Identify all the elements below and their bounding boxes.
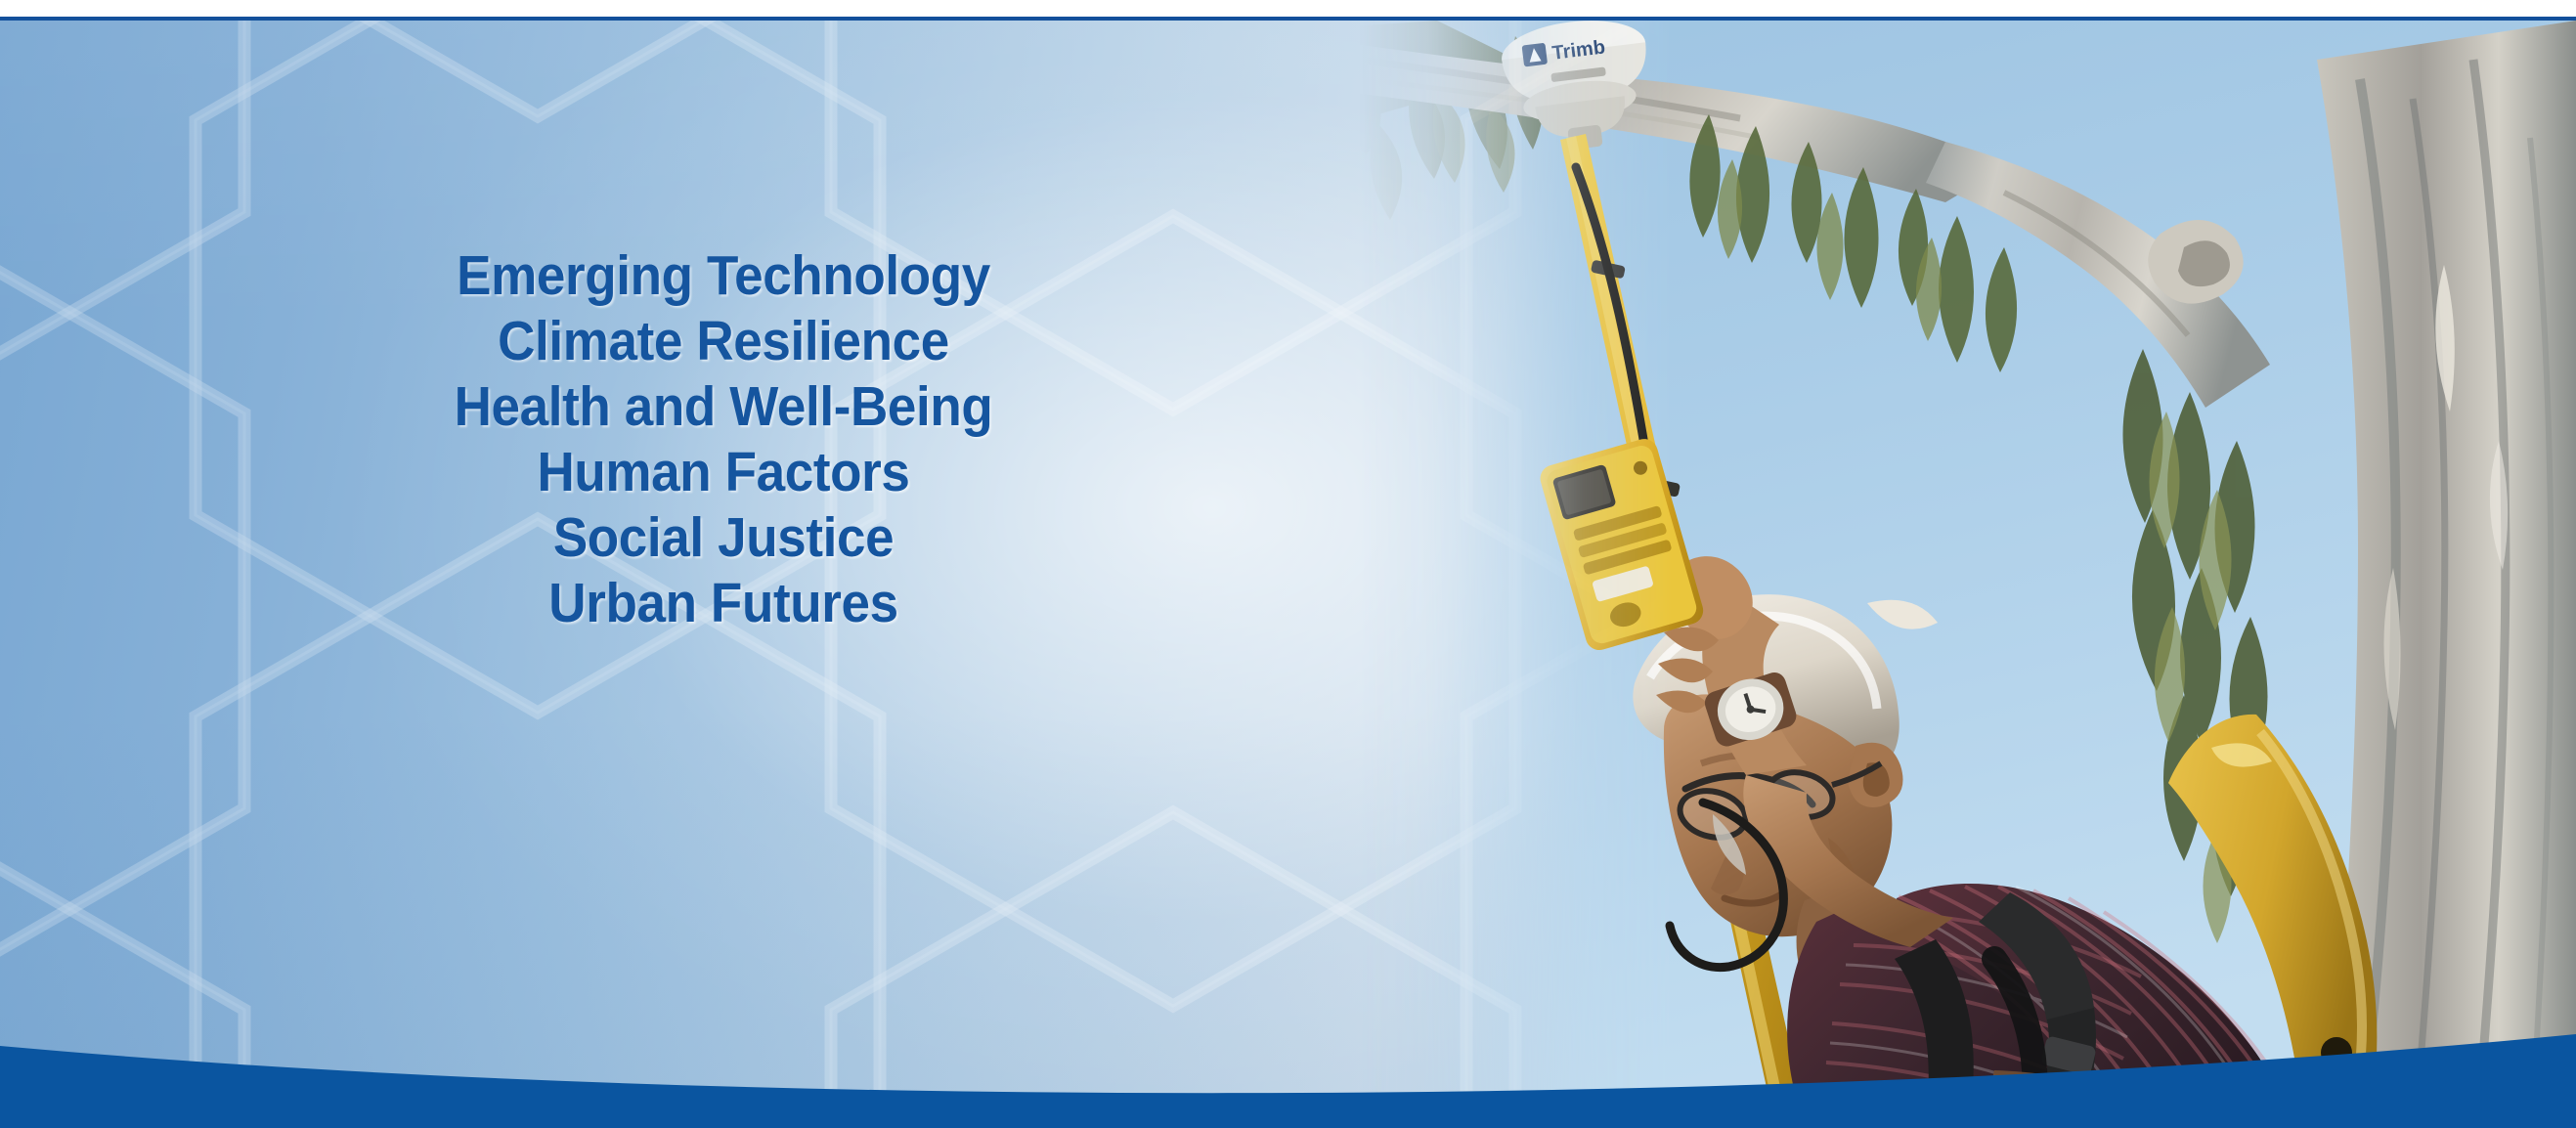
research-themes-banner: Trimb bbox=[0, 0, 2576, 1128]
theme-list: Emerging Technology Climate Resilience H… bbox=[244, 243, 1202, 636]
bottom-blue-wave-band bbox=[0, 1011, 2576, 1128]
theme-item-climate-resilience: Climate Resilience bbox=[278, 309, 1168, 374]
top-white-strip bbox=[0, 0, 2576, 17]
theme-item-social-justice: Social Justice bbox=[278, 505, 1168, 571]
theme-item-urban-futures: Urban Futures bbox=[278, 571, 1168, 636]
top-blue-divider-rule bbox=[0, 17, 2576, 21]
theme-item-emerging-technology: Emerging Technology bbox=[278, 243, 1168, 309]
theme-item-health-and-well-being: Health and Well-Being bbox=[278, 374, 1168, 440]
surveyor-with-gps-equipment-photo: Trimb bbox=[1320, 21, 2576, 1128]
theme-item-human-factors: Human Factors bbox=[278, 440, 1168, 505]
banner-stage: Trimb bbox=[0, 21, 2576, 1128]
